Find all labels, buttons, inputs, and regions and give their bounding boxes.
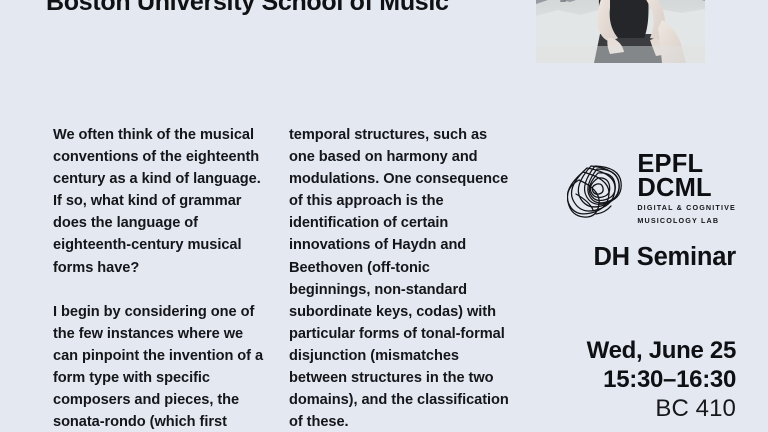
seminar-poster: Boston University School of Music [0,0,768,432]
logo-dcml: DCML [637,176,736,200]
event-date: Wed, June 25 [440,336,736,365]
event-time: 15:30–16:30 [440,365,736,394]
logo-wordmark: EPFL DCML DIGITAL & COGNITIVE MUSICOLOGY… [637,152,736,225]
branding-rail: EPFL DCML DIGITAL & COGNITIVE MUSICOLOGY… [512,150,736,272]
dcml-spiral-icon-svg [567,160,627,218]
epfl-dcml-logo: EPFL DCML DIGITAL & COGNITIVE MUSICOLOGY… [512,150,736,228]
speaker-photo-image [536,0,705,63]
abstract-paragraph: We often think of the musical convention… [53,124,272,279]
speaker-photo [536,0,705,63]
logo-subtitle-line1: DIGITAL & COGNITIVE [637,203,736,213]
seminar-series-title: DH Seminar [512,242,736,272]
event-room: BC 410 [440,394,736,424]
logo-epfl: EPFL [637,152,736,176]
abstract-column-left: We often think of the musical convention… [53,124,272,432]
abstract-paragraph: I begin by considering one of the few in… [53,301,272,432]
event-details: Wed, June 25 15:30–16:30 BC 410 [440,336,736,424]
logo-subtitle-line2: MUSICOLOGY LAB [637,216,736,226]
page-title: Boston University School of Music [46,0,516,17]
dcml-spiral-icon [567,160,627,218]
